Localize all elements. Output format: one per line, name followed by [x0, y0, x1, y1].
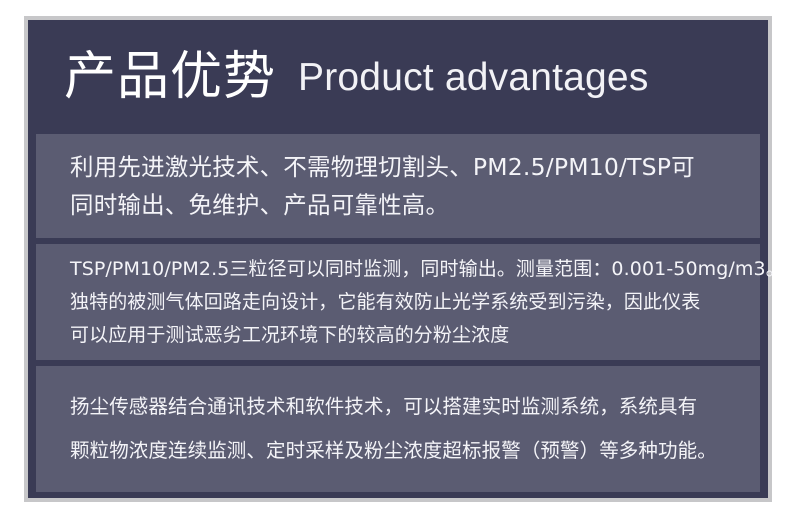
advantage-text-line: 独特的被测气体回路走向设计，它能有效防止光学系统受到污染，因此仪表 — [70, 286, 742, 319]
page-canvas: 产品优势 Product advantages 利用先进激光技术、不需物理切割头… — [0, 0, 800, 531]
page-title-cn: 产品优势 — [64, 51, 276, 103]
advantage-text-line: 利用先进激光技术、不需物理切割头、PM2.5/PM10/TSP可 — [70, 148, 730, 186]
page-title-en: Product advantages — [298, 58, 649, 97]
panel-header: 产品优势 Product advantages — [28, 20, 768, 134]
product-advantages-panel: 产品优势 Product advantages 利用先进激光技术、不需物理切割头… — [28, 20, 768, 498]
advantage-text-line: 颗粒物浓度连续监测、定时采样及粉尘浓度超标报警（预警）等多种功能。 — [70, 429, 742, 473]
advantage-block: TSP/PM10/PM2.5三粒径可以同时监测，同时输出。测量范围：0.001-… — [36, 244, 760, 360]
advantage-text-line: 扬尘传感器结合通讯技术和软件技术，可以搭建实时监测系统，系统具有 — [70, 385, 742, 429]
advantage-block: 利用先进激光技术、不需物理切割头、PM2.5/PM10/TSP可 同时输出、免维… — [36, 134, 760, 238]
advantage-text-line: 同时输出、免维护、产品可靠性高。 — [70, 186, 730, 224]
advantage-text-line: TSP/PM10/PM2.5三粒径可以同时监测，同时输出。测量范围：0.001-… — [70, 253, 742, 286]
advantage-block: 扬尘传感器结合通讯技术和软件技术，可以搭建实时监测系统，系统具有 颗粒物浓度连续… — [36, 366, 760, 492]
panel-frame: 产品优势 Product advantages 利用先进激光技术、不需物理切割头… — [24, 16, 772, 502]
advantage-text-line: 可以应用于测试恶劣工况环境下的较高的分粉尘浓度 — [70, 319, 742, 352]
advantage-block-list: 利用先进激光技术、不需物理切割头、PM2.5/PM10/TSP可 同时输出、免维… — [36, 134, 760, 492]
